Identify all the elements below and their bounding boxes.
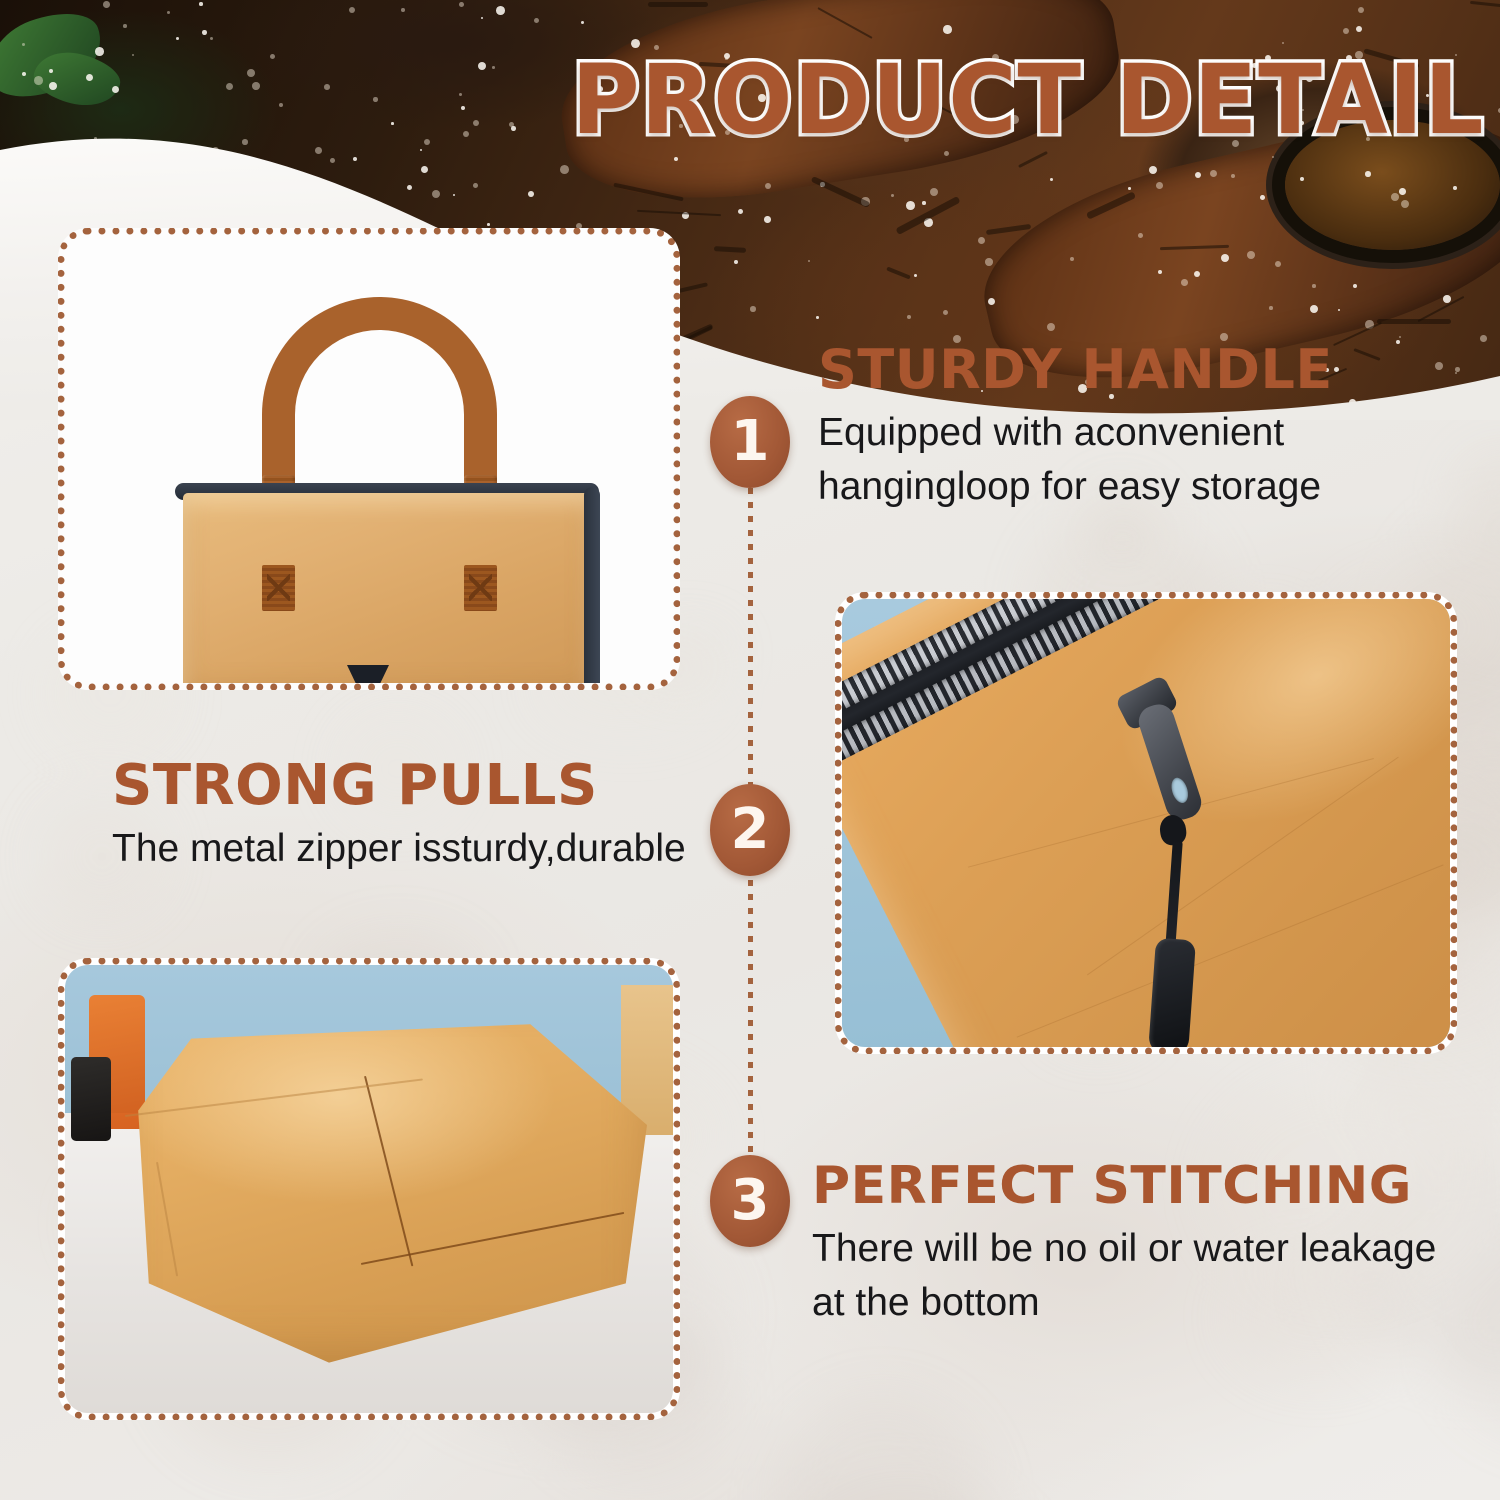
handle-photo-inner	[65, 235, 673, 683]
kraft-crease	[1017, 864, 1444, 1037]
bag-strap-tack-left	[262, 565, 295, 611]
page-title: PRODUCT DETAIL	[45, 48, 1500, 152]
feature-3-heading: PERFECT STITCHING	[812, 1156, 1472, 1216]
bag-side-trim	[584, 487, 600, 690]
feature-2-heading: STRONG PULLS	[112, 756, 732, 816]
feature-1-heading: STURDY HANDLE	[818, 340, 1458, 400]
feature-3-body: There will be no oil or water leakage at…	[812, 1222, 1472, 1330]
step-badge-3: 3	[710, 1155, 790, 1247]
feature-1-body: Equipped with aconvenient hangingloop fo…	[818, 406, 1458, 514]
tote-bag-handle-photo	[58, 228, 680, 690]
bag-strap-tack-right	[464, 565, 497, 611]
feature-block-2: STRONG PULLS The metal zipper issturdy,d…	[112, 756, 732, 876]
kraft-crease	[1087, 757, 1399, 976]
zipper-detail-photo	[835, 592, 1457, 1054]
black-bottle-prop	[71, 1057, 111, 1141]
zipper-photo-inner	[842, 599, 1450, 1047]
step-badge-1: 1	[710, 396, 790, 488]
bottom-photo-inner	[65, 965, 673, 1413]
feature-block-3: PERFECT STITCHING There will be no oil o…	[812, 1156, 1472, 1330]
feature-block-1: STURDY HANDLE Equipped with aconvenient …	[818, 340, 1458, 514]
bag-handle-arc	[262, 297, 497, 512]
bag-bottom-photo	[58, 958, 680, 1420]
infographic-canvas: PRODUCT DETAIL	[0, 0, 1500, 1500]
feature-2-body: The metal zipper issturdy,durable	[112, 822, 732, 876]
bag-logo-mark	[347, 665, 389, 690]
bag-body-panel	[183, 493, 591, 690]
zipper-pull-grip	[1148, 938, 1196, 1054]
